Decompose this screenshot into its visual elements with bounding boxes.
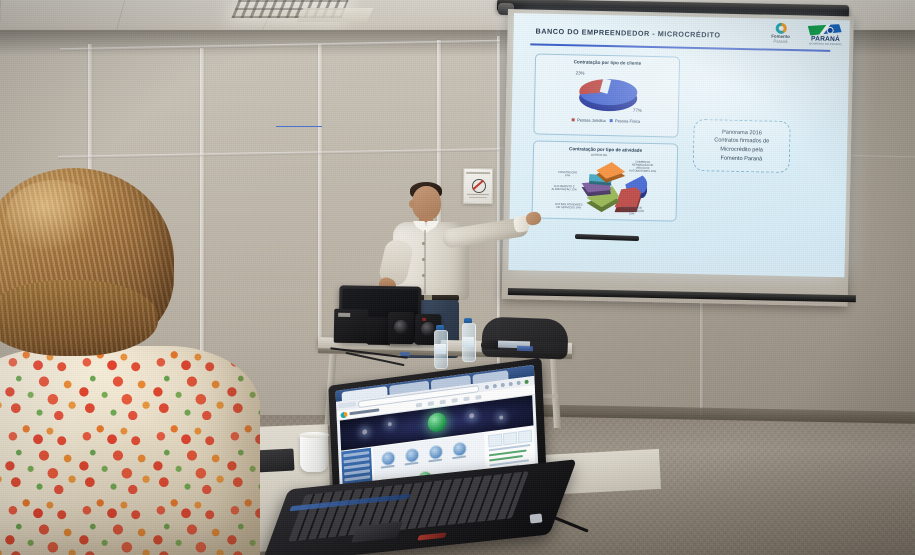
pie-1-label-juridica: 23% [576, 70, 585, 75]
legend-swatch-fisica [610, 120, 613, 123]
pie-2-label-industria: INDÚSTRIAS DE TRANSFORMAÇÃO 22% [617, 206, 647, 216]
chart-1-title: Contratação por tipo de cliente [536, 58, 679, 66]
browser-toolbar-icon[interactable] [517, 380, 521, 385]
presenter-head [412, 186, 441, 220]
pie-2-label-comercio: COMÉRCIO REPARAÇÃO DE VEÍCULOS AUTOMOTOR… [628, 161, 658, 174]
pie-2-label-alojamento: ALOJAMENTO E ALIMENTAÇÃO 12% [551, 185, 577, 192]
banner-globe-graphic [427, 412, 447, 434]
pie-1-legend: Pessoa Jurídica Pessoa Física [535, 116, 678, 124]
desktop-speaker-left [388, 312, 415, 344]
attendee-foreground-person [0, 168, 278, 555]
presenter-shirt-placket [424, 230, 426, 294]
pie-2-label-servicos: OUTRAS ATIVIDADES DE SERVIÇOS 16% [555, 203, 583, 210]
ceiling-light-fixture-secondary [297, 8, 374, 22]
slide-callout-box: Panorama 2016 Contratos firmados de Micr… [693, 119, 791, 173]
parana-government-logo: PARANÁ GOVERNO DO ESTADO [805, 22, 846, 47]
browser-toolbar-icon[interactable] [493, 383, 497, 388]
banner-light-dot [469, 413, 474, 419]
presenter-shirt-button [422, 242, 425, 245]
bottle-label [462, 337, 474, 347]
callout-line-2: Contratos firmados de [714, 138, 769, 145]
browser-toolbar-icon[interactable] [525, 379, 529, 384]
presenter-ear [409, 200, 415, 208]
attendee-hair-lower [0, 280, 158, 356]
water-bottle-desk [461, 318, 475, 360]
sign-top-band [466, 172, 490, 174]
bottle-label [434, 344, 446, 354]
site-nav-item[interactable] [428, 401, 434, 406]
office-chair [481, 317, 568, 360]
wall-seam [700, 300, 703, 416]
presenter-shirt-button [422, 274, 425, 277]
browser-toolbar-icon[interactable] [485, 384, 489, 389]
callout-line-4: Fomento Paraná [720, 155, 762, 162]
site-nav-item[interactable] [452, 398, 458, 403]
legend-swatch-juridica [572, 119, 575, 122]
site-logo-text [349, 408, 379, 415]
pie-chart-cliente: 23% 77% [571, 72, 644, 120]
pie-2-label-outros: OUTROS 8% [588, 154, 610, 158]
banner-light-dot [388, 422, 392, 427]
chart-2-title: Contratação por tipo de atividade [534, 145, 677, 153]
service-icon-label [381, 465, 395, 469]
service-icon-label [452, 455, 466, 459]
wall-seam [318, 44, 322, 344]
callout-line-1: Panorama 2016 [722, 129, 762, 136]
chart-card-atividade: Contratação por tipo de atividade COMÉRC… [532, 140, 679, 221]
site-logo-icon[interactable] [340, 412, 347, 419]
equipment-label [338, 313, 350, 317]
site-nav-item[interactable] [463, 396, 469, 401]
callout-line-3: Microcrédito pela [720, 147, 763, 154]
site-nav-item[interactable] [440, 400, 446, 405]
av-equipment-box-secondary [366, 317, 390, 344]
slide-connector-line [276, 126, 322, 127]
laptop-port [530, 513, 543, 523]
parana-flag-icon [806, 22, 844, 37]
right-column-widget[interactable] [488, 434, 502, 448]
presenter-right-hand [525, 211, 542, 227]
pie-chart-atividade: COMÉRCIO REPARAÇÃO DE VEÍCULOS AUTOMOTOR… [559, 157, 656, 217]
browser-toolbar-icon[interactable] [509, 381, 513, 386]
right-column-widget[interactable] [503, 432, 517, 446]
site-nav-item[interactable] [416, 403, 422, 408]
speaker-cone [394, 320, 408, 334]
site-nav-item[interactable] [475, 395, 481, 400]
foreground-laptop[interactable] [268, 372, 568, 555]
legend-label-juridica: Pessoa Jurídica [577, 117, 606, 123]
photo-scene: BANCO DO EMPREENDEDOR - MICROCRÉDITO Fom… [0, 0, 915, 555]
service-icon-label [405, 462, 419, 466]
speaker-power-led [422, 318, 426, 321]
pie-1-label-fisica: 77% [633, 108, 642, 113]
parana-logo-subtitle: GOVERNO DO ESTADO [805, 42, 845, 46]
legend-label-fisica: Pessoa Física [615, 118, 640, 124]
attendee-blouse-shading [0, 346, 260, 555]
blue-object-desk [517, 346, 533, 352]
pie-2-label-construcao: CONSTRUÇÃO 10% [555, 171, 579, 178]
slide-title: BANCO DO EMPREENDEDOR - MICROCRÉDITO [536, 26, 721, 39]
banner-light-dot [362, 429, 367, 435]
service-icon-label [428, 459, 442, 463]
pie-2-callout-labels: COMÉRCIO REPARAÇÃO DE VEÍCULOS AUTOMOTOR… [560, 157, 656, 159]
chart-card-cliente: Contratação por tipo de cliente 23% 77% … [533, 53, 680, 137]
banner-light-dot [499, 415, 503, 420]
parana-globe-icon [827, 27, 834, 34]
av-equipment-box [334, 309, 369, 344]
fomento-logo-line2: Paraná [765, 39, 795, 44]
browser-toolbar-icon[interactable] [501, 382, 505, 387]
presenter-shirt-button [422, 258, 425, 261]
browser-back-forward-controls[interactable] [338, 401, 356, 408]
water-bottle-desk-back [433, 325, 447, 361]
fomento-mark-icon [775, 23, 786, 34]
right-column-widget[interactable] [518, 430, 532, 444]
fomento-parana-logo: Fomento Paraná [765, 22, 795, 45]
projected-slide: BANCO DO EMPREENDEDOR - MICROCRÉDITO Fom… [508, 13, 850, 277]
attendee-hair-highlight [6, 180, 102, 252]
